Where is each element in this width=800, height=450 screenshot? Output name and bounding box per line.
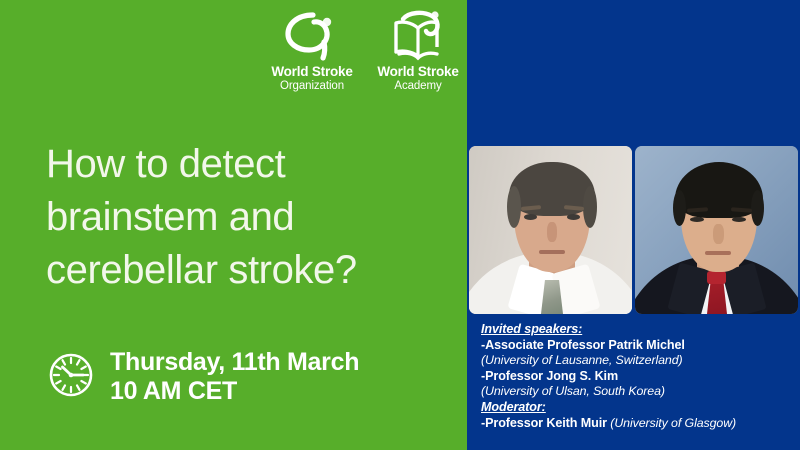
moderator-name: -Professor Keith Muir (481, 416, 607, 430)
date-time-block: Thursday, 11th March 10 AM CET (48, 348, 359, 406)
date-line-1: Thursday, 11th March (110, 348, 359, 377)
title-line-3: cerebellar stroke? (46, 244, 456, 297)
speaker-1-name: -Associate Professor Patrik Michel (481, 338, 797, 354)
date-line-2: 10 AM CET (110, 377, 359, 406)
invited-speakers-heading: Invited speakers: (481, 322, 797, 338)
clock-icon (48, 352, 94, 403)
brain-swirl-icon (262, 8, 362, 64)
logo-name: World Stroke (368, 64, 468, 79)
logo-subtitle: Academy (368, 79, 468, 93)
speaker-photos (469, 146, 799, 314)
logo-subtitle: Organization (262, 79, 362, 93)
title-line-2: brainstem and (46, 191, 456, 244)
logo-row: World Stroke Organization World Stroke A… (262, 8, 472, 93)
speakers-block: Invited speakers: -Associate Professor P… (481, 322, 797, 431)
page-title: How to detect brainstem and cerebellar s… (46, 138, 456, 297)
speaker-photo-jong-s-kim (635, 146, 798, 314)
moderator-line: -Professor Keith Muir (University of Gla… (481, 416, 797, 432)
open-book-swirl-icon (368, 8, 468, 64)
title-line-1: How to detect (46, 138, 456, 191)
speaker-1-affiliation: (University of Lausanne, Switzerland) (481, 353, 797, 369)
moderator-affiliation: (University of Glasgow) (610, 416, 736, 430)
world-stroke-academy-logo: World Stroke Academy (368, 8, 468, 93)
speaker-2-name: -Professor Jong S. Kim (481, 369, 797, 385)
world-stroke-organization-logo: World Stroke Organization (262, 8, 362, 93)
speaker-photo-patrik-michel (469, 146, 632, 314)
logo-name: World Stroke (262, 64, 362, 79)
speaker-2-affiliation: (University of Ulsan, South Korea) (481, 384, 797, 400)
date-text: Thursday, 11th March 10 AM CET (110, 348, 359, 406)
moderator-heading: Moderator: (481, 400, 797, 416)
webinar-promo-poster: World Stroke Organization World Stroke A… (0, 0, 800, 450)
